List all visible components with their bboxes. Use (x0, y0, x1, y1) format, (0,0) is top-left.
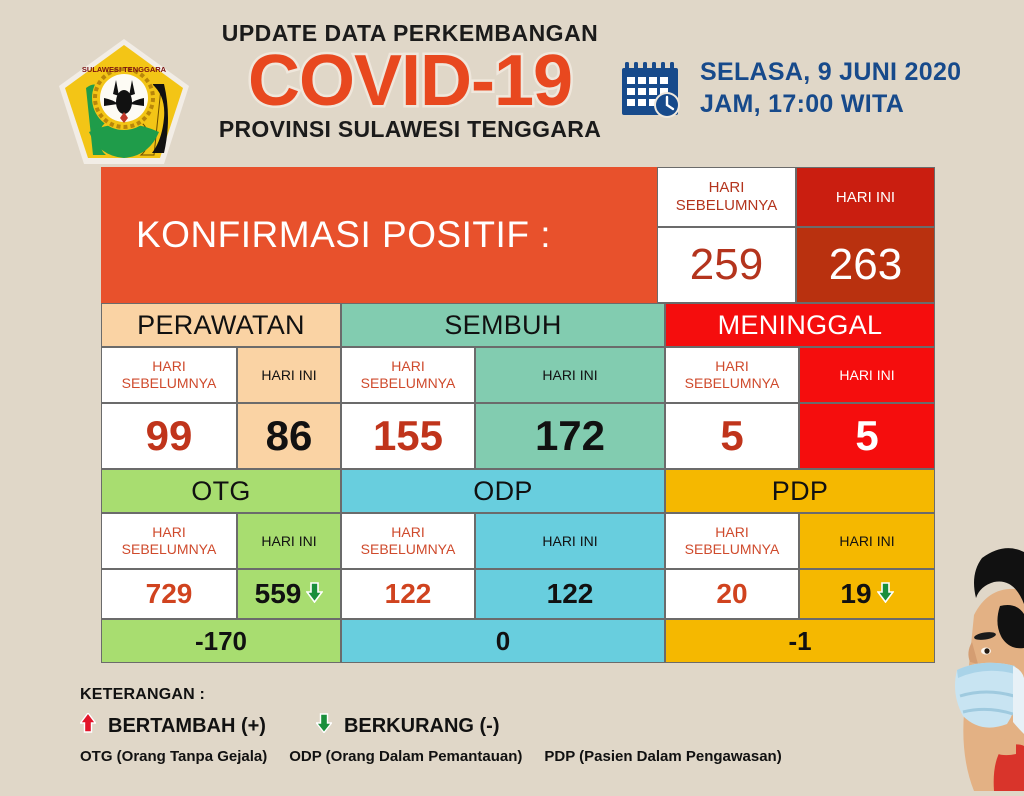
konfirmasi-today-header: HARI INI (796, 167, 935, 227)
stats-table: KONFIRMASI POSITIF : HARI SEBELUMNYA HAR… (101, 167, 935, 663)
time-text: JAM, 17:00 WITA (700, 88, 961, 120)
otg-today-header: HARI INI (237, 513, 341, 569)
pdp-today-value: 19 (799, 569, 935, 619)
calendar-clock-icon (620, 55, 686, 121)
legend-title: KETERANGAN : (80, 686, 800, 704)
konfirmasi-prev-value: 259 (657, 227, 796, 303)
value-row-1: 99 86 155 172 5 5 (101, 403, 935, 469)
value-row-2: 729 559 122 122 20 19 (101, 569, 935, 619)
subheader-row-2: HARI SEBELUMNYA HARI INI HARI SEBELUMNYA… (101, 513, 935, 569)
konfirmasi-prev-header: HARI SEBELUMNYA (657, 167, 796, 227)
label-prev-line1: HARI (715, 358, 748, 375)
label-prev-line2: SEBELUMNYA (685, 541, 780, 558)
label-prev-line2: SEBELUMNYA (676, 197, 777, 215)
meninggal-prev-value: 5 (665, 403, 799, 469)
legend-up-label: BERTAMBAH (+) (108, 715, 266, 738)
perawatan-prev-header: HARI SEBELUMNYA (101, 347, 237, 403)
legend-abbreviations: OTG (Orang Tanpa Gejala) ODP (Orang Dala… (80, 748, 800, 765)
header-title-covid: COVID-19 (200, 47, 620, 116)
label-prev-line1: HARI (152, 358, 185, 375)
emblem-text: SULAWESI TENGGARA (82, 65, 167, 74)
pdp-prev-header: HARI SEBELUMNYA (665, 513, 799, 569)
sembuh-prev-value: 155 (341, 403, 475, 469)
perawatan-today-header: HARI INI (237, 347, 341, 403)
odp-delta-value: 0 (341, 619, 665, 663)
group-title-row-1: PERAWATAN SEMBUH MENINGGAL (101, 303, 935, 347)
group-title-odp: ODP (341, 469, 665, 513)
date-text: SELASA, 9 JUNI 2020 (700, 56, 961, 88)
header-line-province: PROVINSI SULAWESI TENGGARA (200, 118, 620, 141)
group-title-sembuh: SEMBUH (341, 303, 665, 347)
group-title-otg: OTG (101, 469, 341, 513)
label-prev-line2: SEBELUMNYA (361, 375, 456, 392)
otg-today-number: 559 (255, 578, 302, 610)
label-prev-line1: HARI (709, 179, 745, 197)
label-prev-line2: SEBELUMNYA (122, 375, 217, 392)
konfirmasi-values: HARI SEBELUMNYA HARI INI 259 263 (657, 167, 935, 303)
legend-abbr-odp: ODP (Orang Dalam Pemantauan) (289, 748, 522, 765)
legend: KETERANGAN : BERTAMBAH (+) BERKURANG (-)… (80, 686, 800, 765)
group-title-meninggal: MENINGGAL (665, 303, 935, 347)
meninggal-prev-header: HARI SEBELUMNYA (665, 347, 799, 403)
odp-prev-value: 122 (341, 569, 475, 619)
group-title-row-2: OTG ODP PDP (101, 469, 935, 513)
subheader-row-1: HARI SEBELUMNYA HARI INI HARI SEBELUMNYA… (101, 347, 935, 403)
legend-abbr-pdp: PDP (Pasien Dalam Pengawasan) (544, 748, 781, 765)
odp-today-header: HARI INI (475, 513, 665, 569)
legend-down-label: BERKURANG (-) (344, 715, 500, 738)
konfirmasi-label: KONFIRMASI POSITIF : (101, 167, 657, 303)
label-prev-line1: HARI (715, 524, 748, 541)
sembuh-today-value: 172 (475, 403, 665, 469)
sembuh-today-header: HARI INI (475, 347, 665, 403)
legend-arrows: BERTAMBAH (+) BERKURANG (-) (80, 713, 800, 739)
otg-prev-value: 729 (101, 569, 237, 619)
date-time-text: SELASA, 9 JUNI 2020 JAM, 17:00 WITA (700, 56, 961, 120)
label-prev-line2: SEBELUMNYA (361, 541, 456, 558)
header: SULAWESI TENGGARA UPDATE DATA PERKEMBANG… (0, 0, 1024, 165)
odp-today-value: 122 (475, 569, 665, 619)
infographic-page: SULAWESI TENGGARA UPDATE DATA PERKEMBANG… (0, 0, 1024, 791)
sembuh-prev-header: HARI SEBELUMNYA (341, 347, 475, 403)
man-wearing-face-mask-illustration (930, 520, 1024, 791)
arrow-down-icon (316, 713, 332, 739)
pdp-delta-value: -1 (665, 619, 935, 663)
arrow-down-icon (306, 578, 323, 610)
odp-prev-header: HARI SEBELUMNYA (341, 513, 475, 569)
meninggal-today-header: HARI INI (799, 347, 935, 403)
perawatan-prev-value: 99 (101, 403, 237, 469)
label-prev-line2: SEBELUMNYA (685, 375, 780, 392)
pdp-today-header: HARI INI (799, 513, 935, 569)
pdp-prev-value: 20 (665, 569, 799, 619)
perawatan-today-value: 86 (237, 403, 341, 469)
date-time-block: SELASA, 9 JUNI 2020 JAM, 17:00 WITA (620, 55, 961, 121)
arrow-up-icon (80, 713, 96, 739)
legend-abbr-otg: OTG (Orang Tanpa Gejala) (80, 748, 267, 765)
pdp-today-number: 19 (840, 578, 871, 610)
delta-row: -170 0 -1 (101, 619, 935, 663)
group-title-perawatan: PERAWATAN (101, 303, 341, 347)
label-prev-line1: HARI (391, 358, 424, 375)
label-prev-line2: SEBELUMNYA (122, 541, 217, 558)
konfirmasi-today-value: 263 (796, 227, 935, 303)
meninggal-today-value: 5 (799, 403, 935, 469)
konfirmasi-row: KONFIRMASI POSITIF : HARI SEBELUMNYA HAR… (101, 167, 935, 303)
sulawesi-tenggara-emblem-icon: SULAWESI TENGGARA (56, 36, 192, 168)
otg-today-value: 559 (237, 569, 341, 619)
otg-prev-header: HARI SEBELUMNYA (101, 513, 237, 569)
group-title-pdp: PDP (665, 469, 935, 513)
label-prev-line1: HARI (152, 524, 185, 541)
arrow-down-icon (877, 578, 894, 610)
title-block: UPDATE DATA PERKEMBANGAN COVID-19 PROVIN… (200, 22, 620, 141)
otg-delta-value: -170 (101, 619, 341, 663)
label-prev-line1: HARI (391, 524, 424, 541)
